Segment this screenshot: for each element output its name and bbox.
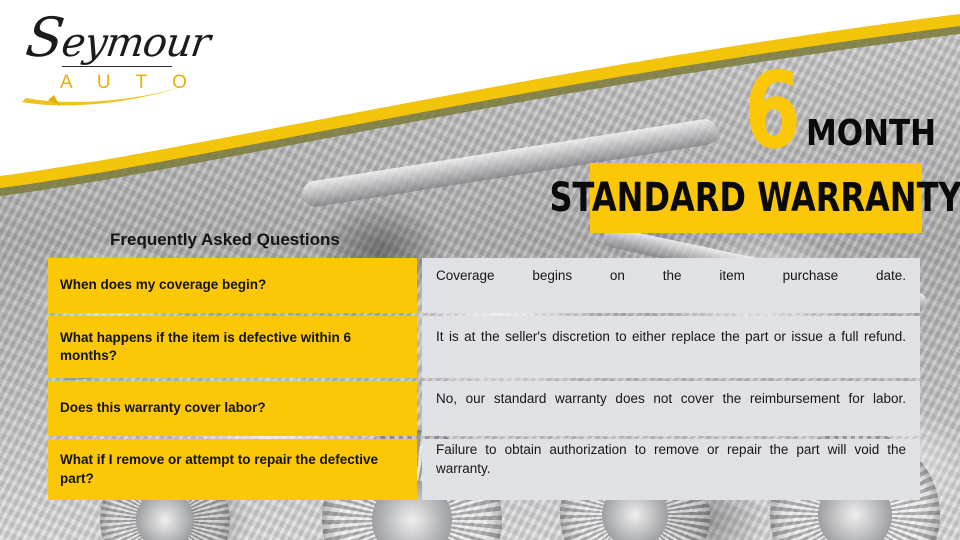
warranty-duration: 6 MONTH — [744, 55, 944, 160]
faq-table: When does my coverage begin? Coverage be… — [48, 258, 920, 503]
faq-answer-text: Failure to obtain authorization to remov… — [436, 441, 906, 498]
faq-question-cell: Does this warranty cover labor? — [48, 381, 417, 436]
logo-script-remainder: eymour — [59, 20, 213, 66]
faq-question-cell: What happens if the item is defective wi… — [48, 316, 417, 378]
faq-row: What if I remove or attempt to repair th… — [48, 439, 920, 500]
faq-answer-text: No, our standard warranty does not cover… — [436, 390, 906, 428]
warranty-duration-unit: MONTH — [806, 116, 936, 152]
seymour-auto-logo: Seymour A U T O — [18, 14, 198, 110]
faq-question-text: What happens if the item is defective wi… — [60, 329, 405, 365]
standard-warranty-label: STANDARD WARRANTY — [550, 178, 960, 218]
faq-row: Does this warranty cover labor? No, our … — [48, 381, 920, 436]
faq-row: When does my coverage begin? Coverage be… — [48, 258, 920, 313]
faq-row: What happens if the item is defective wi… — [48, 316, 920, 378]
warranty-slide: Seymour A U T O 6 MONTH STANDARD WARRANT… — [0, 0, 960, 540]
faq-answer-text: It is at the seller's discretion to eith… — [436, 328, 906, 366]
faq-answer-cell: It is at the seller's discretion to eith… — [422, 316, 920, 378]
logo-subtitle: A U T O — [60, 72, 197, 94]
faq-question-cell: When does my coverage begin? — [48, 258, 417, 313]
standard-warranty-banner: STANDARD WARRANTY — [590, 163, 922, 233]
faq-answer-cell: Failure to obtain authorization to remov… — [422, 439, 920, 500]
faq-answer-cell: No, our standard warranty does not cover… — [422, 381, 920, 436]
faq-question-text: What if I remove or attempt to repair th… — [60, 451, 405, 487]
logo-script-text: Seymour — [23, 20, 213, 66]
warranty-duration-number: 6 — [744, 59, 799, 164]
logo-underline — [62, 66, 172, 67]
faq-answer-cell: Coverage begins on the item purchase dat… — [422, 258, 920, 313]
faq-heading: Frequently Asked Questions — [110, 230, 340, 250]
faq-question-text: When does my coverage begin? — [60, 276, 266, 294]
faq-question-text: Does this warranty cover labor? — [60, 399, 266, 417]
faq-answer-text: Coverage begins on the item purchase dat… — [436, 267, 906, 305]
faq-question-cell: What if I remove or attempt to repair th… — [48, 439, 417, 500]
